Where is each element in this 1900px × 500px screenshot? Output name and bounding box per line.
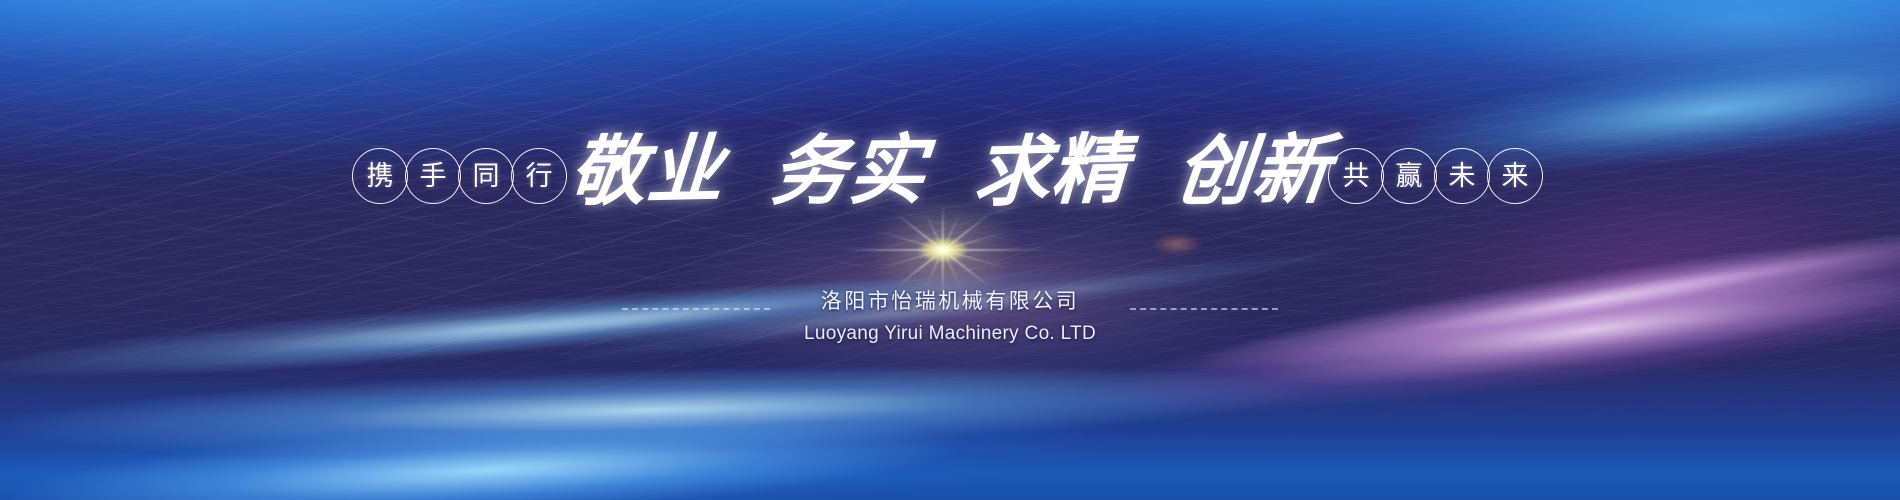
circled-char-wei: 未 (1434, 148, 1490, 204)
company-name-cn: 洛阳市怡瑞机械有限公司 (804, 286, 1096, 319)
circled-char-tong: 同 (458, 148, 514, 204)
circled-char-label: 共 (1343, 163, 1370, 190)
company-names: 洛阳市怡瑞机械有限公司 Luoyang Yirui Machinery Co. … (804, 286, 1096, 348)
circled-char-label: 赢 (1396, 163, 1423, 190)
slogan-word-wushi: 务实 (768, 132, 929, 210)
circled-char-ying: 赢 (1381, 148, 1437, 204)
circled-phrase-left: 携 手 同 行 (352, 148, 564, 204)
dashed-divider-right (1130, 308, 1278, 311)
dashed-divider-left (622, 308, 770, 311)
circled-char-label: 同 (473, 163, 500, 190)
slogan-word-jingye: 敬业 (567, 131, 726, 210)
company-name-block: 洛阳市怡瑞机械有限公司 Luoyang Yirui Machinery Co. … (0, 286, 1900, 348)
circled-char-label: 未 (1449, 163, 1476, 190)
slogan-word-qiujing: 求精 (972, 131, 1129, 211)
slogan-calligraphy: 敬业 务实 求精 创新 (570, 116, 1330, 226)
circled-char-label: 来 (1502, 163, 1529, 190)
circled-char-gong: 共 (1328, 148, 1384, 204)
circled-char-lai: 来 (1487, 148, 1543, 204)
banner-content: 携 手 同 行 敬业 务实 求精 创新 共 赢 未 来 洛阳市怡瑞机械有限公司 … (0, 0, 1900, 500)
slogan-word-chuangxin: 创新 (1172, 132, 1334, 210)
circled-char-label: 携 (367, 163, 394, 190)
company-name-en: Luoyang Yirui Machinery Co. LTD (804, 319, 1096, 348)
circled-phrase-right: 共 赢 未 来 (1328, 148, 1540, 204)
circled-char-xing: 行 (511, 148, 567, 204)
circled-char-label: 手 (420, 163, 447, 190)
corporate-banner: 携 手 同 行 敬业 务实 求精 创新 共 赢 未 来 洛阳市怡瑞机械有限公司 … (0, 0, 1900, 500)
circled-char-xie: 携 (352, 148, 408, 204)
circled-char-label: 行 (526, 163, 553, 190)
circled-char-shou: 手 (405, 148, 461, 204)
